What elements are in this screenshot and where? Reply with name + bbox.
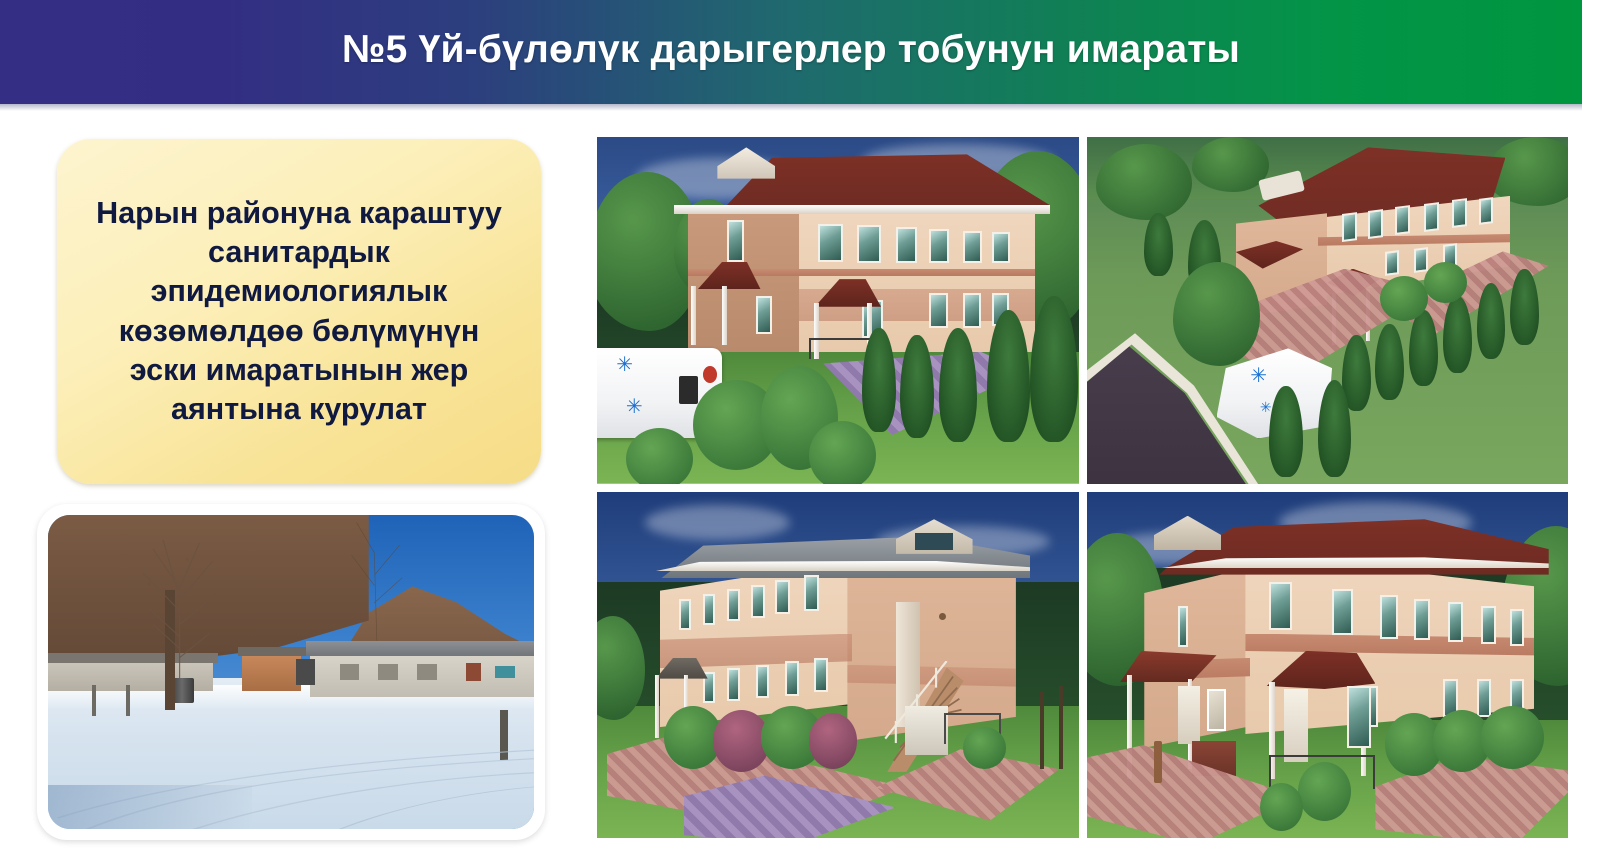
ambulance-window (679, 376, 698, 404)
tree-trunk (1059, 686, 1063, 769)
window (963, 231, 982, 264)
background-tree (1096, 144, 1192, 220)
old-building-window (340, 664, 359, 680)
entry-sidelight (1347, 686, 1371, 748)
shrub (809, 421, 876, 483)
window (1510, 609, 1523, 645)
window (814, 658, 828, 693)
existing-site-photo (48, 515, 534, 829)
shrub (1380, 276, 1428, 321)
window (1477, 679, 1491, 717)
window (1414, 247, 1428, 273)
foreground-tree (1173, 262, 1260, 366)
window (1368, 209, 1383, 239)
window (896, 227, 918, 263)
background-tree (1192, 137, 1269, 192)
header-shadow (0, 104, 1582, 111)
window (1479, 197, 1493, 225)
side-window (1207, 689, 1226, 731)
slide-header: №5 Үй-бүлөлүк дарыгерлер тобунун имараты (0, 0, 1582, 104)
porch-column (722, 286, 727, 345)
window (1380, 595, 1397, 638)
shrub (963, 727, 1006, 769)
shrub (1260, 783, 1303, 832)
old-building-window (378, 664, 397, 680)
window (818, 224, 842, 262)
window (756, 665, 769, 698)
old-building-sign (495, 666, 514, 679)
description-text: Нарын районуна караштуу санитардык эпиде… (96, 194, 502, 428)
slide-root: №5 Үй-бүлөлүк дарыгерлер тобунун имараты… (0, 0, 1598, 860)
entry-door (1284, 689, 1308, 762)
side-door (1178, 686, 1200, 745)
window (727, 668, 740, 701)
existing-site-photo-frame (37, 504, 545, 840)
window (857, 225, 881, 263)
conifer-tree (1443, 296, 1472, 372)
window (703, 594, 716, 625)
rendering-side-view (1087, 492, 1569, 839)
page-title: №5 Үй-бүлөлүк дарыгерлер тобунун имараты (342, 28, 1240, 72)
window (804, 575, 819, 611)
bare-tree-branches (97, 528, 262, 679)
ambulance-star-icon: ✳ (626, 397, 643, 417)
window (1342, 212, 1357, 242)
window (756, 296, 772, 334)
window (1385, 250, 1399, 276)
person-figure (1154, 741, 1162, 783)
shrub (809, 713, 857, 768)
window (751, 585, 764, 618)
porch-column (655, 675, 659, 737)
old-building-long-roof (306, 641, 534, 657)
wall-vent (939, 613, 946, 620)
window (1178, 606, 1188, 648)
ambulance-star-icon: ✳ (616, 355, 633, 375)
shrub (1481, 706, 1544, 768)
ambulance-star-icon: ✳ (1250, 366, 1267, 386)
old-shed-door (296, 659, 315, 684)
rendering-grid: ✳ ✳ (597, 137, 1568, 838)
porch-column (691, 286, 696, 345)
window (929, 293, 948, 328)
rendering-aerial-view: ✳ ✳ (1087, 137, 1569, 484)
shrub (1298, 762, 1351, 821)
rendering-rear-view (597, 492, 1079, 839)
header-right-edge (1582, 0, 1598, 104)
stair-landing-enclosure (905, 706, 948, 755)
window (785, 661, 799, 696)
shrub (1424, 262, 1467, 304)
roof-eave (674, 205, 1050, 214)
window (679, 599, 692, 630)
snow-shadow (48, 785, 252, 829)
shrub (626, 428, 693, 483)
cloud (645, 505, 789, 540)
window (1332, 589, 1353, 636)
window (1481, 606, 1495, 644)
window (727, 589, 740, 622)
ambulance-star-icon: ✳ (1260, 400, 1272, 414)
window (963, 293, 981, 328)
window (1452, 198, 1467, 228)
description-callout: Нарын районуна караштуу санитардык эпиде… (57, 139, 541, 484)
dormer-window (915, 533, 954, 550)
conifer-tree (862, 328, 896, 432)
window (1448, 602, 1463, 642)
window (992, 232, 1010, 263)
old-building-door (466, 663, 481, 682)
window (1424, 202, 1439, 232)
window (775, 580, 789, 615)
window (1269, 582, 1291, 631)
window (727, 220, 744, 262)
window (1414, 599, 1430, 641)
rendering-front-view: ✳ ✳ (597, 137, 1079, 484)
window (1395, 205, 1410, 235)
old-building-window (417, 664, 436, 680)
tree-trunk (1040, 692, 1044, 768)
bare-tree-branches-2 (301, 515, 427, 641)
window (929, 229, 949, 264)
